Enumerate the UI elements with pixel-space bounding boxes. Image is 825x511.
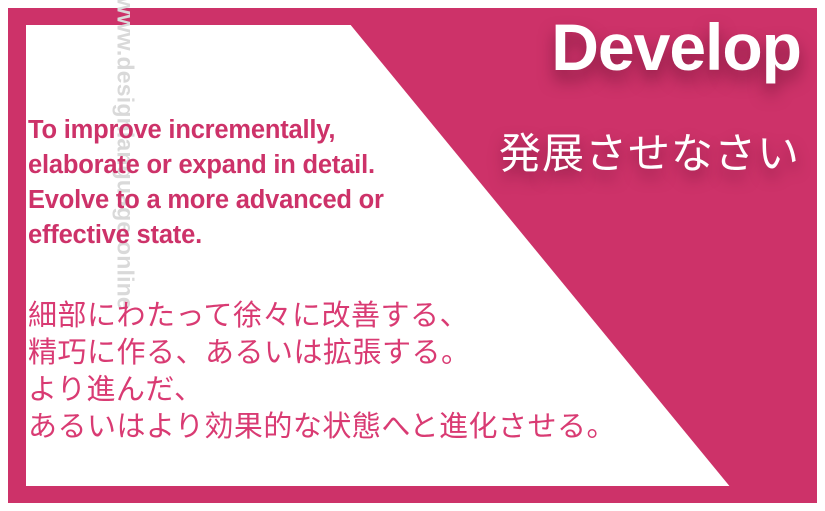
definition-english-line: effective state. — [28, 218, 458, 253]
page-title-japanese: 発展させなさい — [499, 130, 800, 178]
definition-english-line: elaborate or expand in detail. — [28, 148, 458, 183]
page-title: Develop — [551, 14, 801, 80]
definition-english-line: Evolve to a more advanced or — [28, 183, 458, 218]
definition-japanese-line: 精巧に作る、あるいは拡張する。 — [28, 335, 668, 372]
definition-japanese: 細部にわたって徐々に改善する、 精巧に作る、あるいは拡張する。 より進んだ、 あ… — [28, 298, 668, 446]
definition-japanese-line: あるいはより効果的な状態へと進化させる。 — [28, 409, 668, 446]
definition-english: To improve incrementally, elaborate or e… — [28, 113, 458, 253]
definition-english-line: To improve incrementally, — [28, 113, 458, 148]
definition-card: www.designlanguage.online Develop 発展させなさ… — [0, 0, 825, 511]
definition-japanese-line: 細部にわたって徐々に改善する、 — [28, 298, 668, 335]
definition-japanese-line: より進んだ、 — [28, 372, 668, 409]
